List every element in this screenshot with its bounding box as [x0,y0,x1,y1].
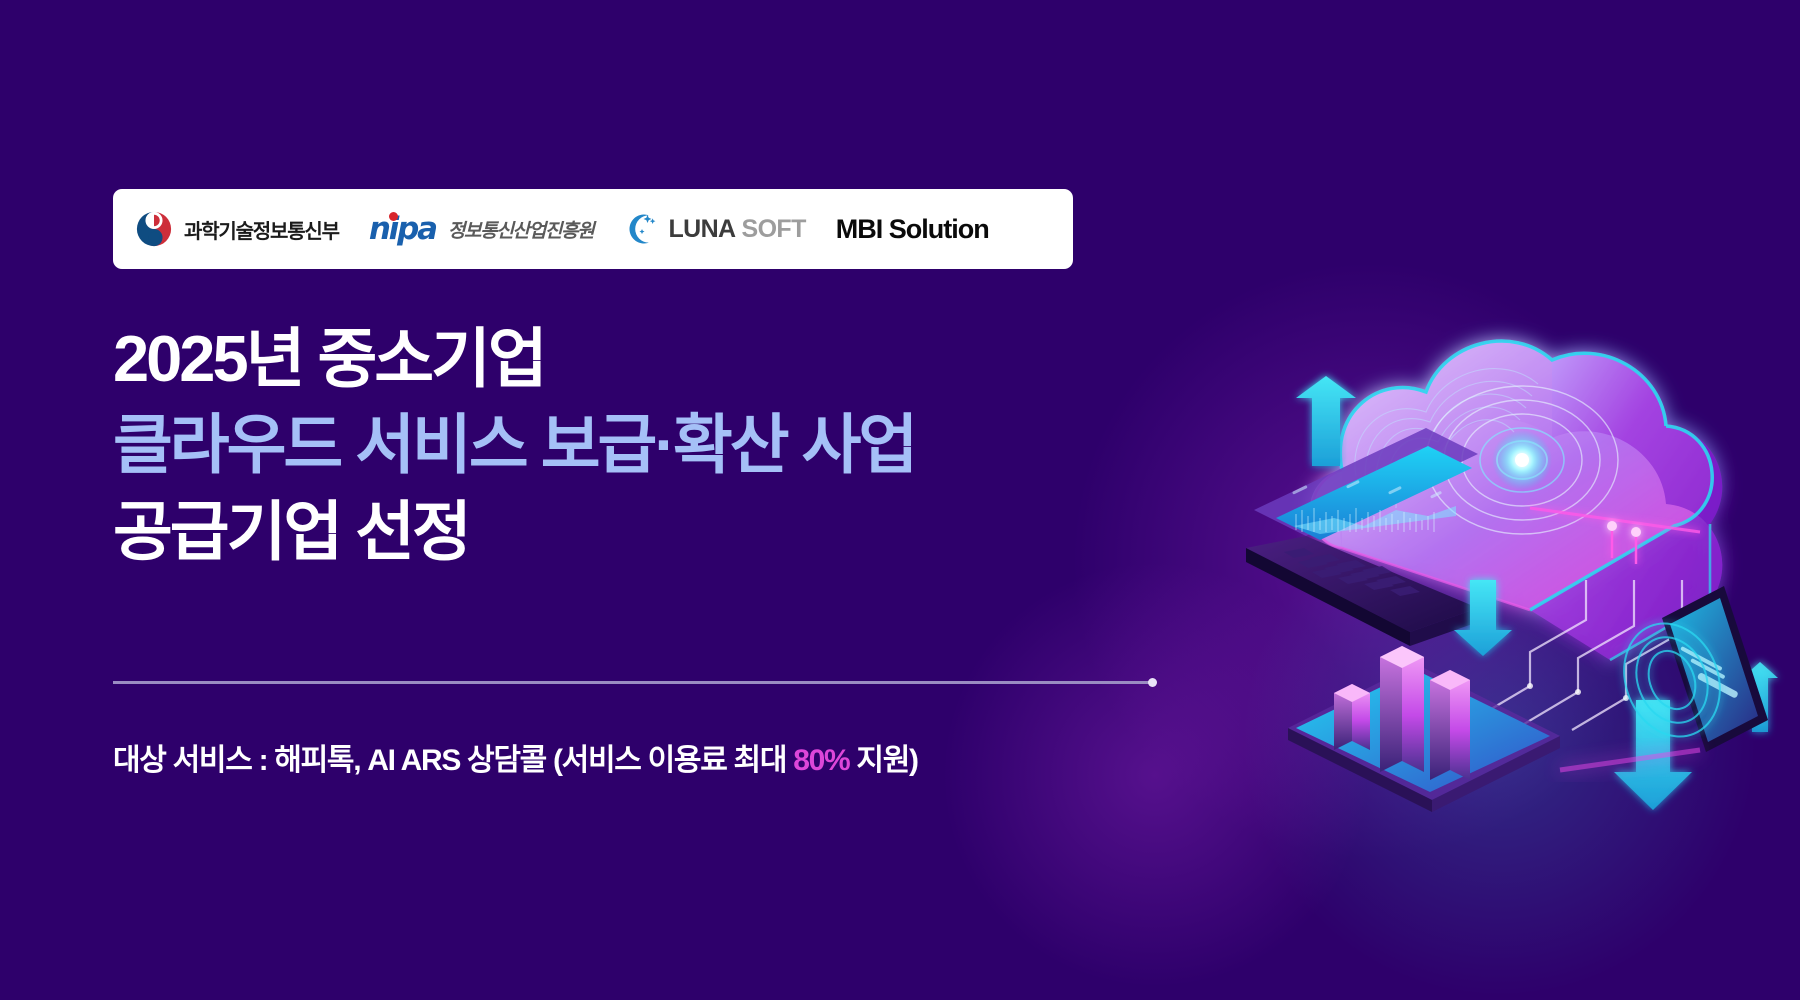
logo-mbi-label: MBI Solution [836,214,989,245]
logo-lunasoft: LUNA SOFT [625,212,805,246]
subtitle-highlight: 80% [793,744,849,777]
logo-nipa: nipa 정보통신산업진흥원 [369,214,594,245]
logo-nipa-label: 정보통신산업진흥원 [448,216,594,243]
cloud-core-dot [1515,453,1529,467]
floor-glow-streak [1560,750,1700,770]
banner-stage: 과학기술정보통신부 nipa 정보통신산업진흥원 LUNA SOFT [0,0,1800,1000]
logo-msit-label: 과학기술정보통신부 [184,215,339,244]
headline-line-1: 2025년 중소기업 [113,316,915,402]
subtitle-suffix: 지원) [849,744,917,777]
divider [113,681,1153,684]
taeguk-icon [135,210,173,248]
headline-line-3: 공급기업 선정 [113,489,915,575]
nipa-red-dot-icon [389,212,398,221]
partner-logo-bar: 과학기술정보통신부 nipa 정보통신산업진흥원 LUNA SOFT [113,189,1073,269]
isometric-cloud-computing-illustration [1230,280,1790,840]
crescent-moon-icon [625,212,659,246]
headline: 2025년 중소기업 클라우드 서비스 보급·확산 사업 공급기업 선정 [113,316,915,575]
subtitle: 대상 서비스 : 해피톡, AI ARS 상담콜 (서비스 이용료 최대 80%… [113,735,918,779]
nipa-wordmark-text: nipa [369,211,436,247]
logo-mbi: MBI Solution [836,214,989,245]
logo-lunasoft-secondary: SOFT [742,215,806,244]
headline-line-2: 클라우드 서비스 보급·확산 사업 [113,402,915,488]
divider-end-dot [1148,678,1157,687]
logo-lunasoft-primary: LUNA [668,215,735,244]
subtitle-prefix: 대상 서비스 : 해피톡, AI ARS 상담콜 (서비스 이용료 최대 [113,744,793,777]
tablet-bar-chart [1288,646,1560,812]
nipa-wordmark: nipa [369,214,436,245]
logo-msit: 과학기술정보통신부 [135,210,339,248]
